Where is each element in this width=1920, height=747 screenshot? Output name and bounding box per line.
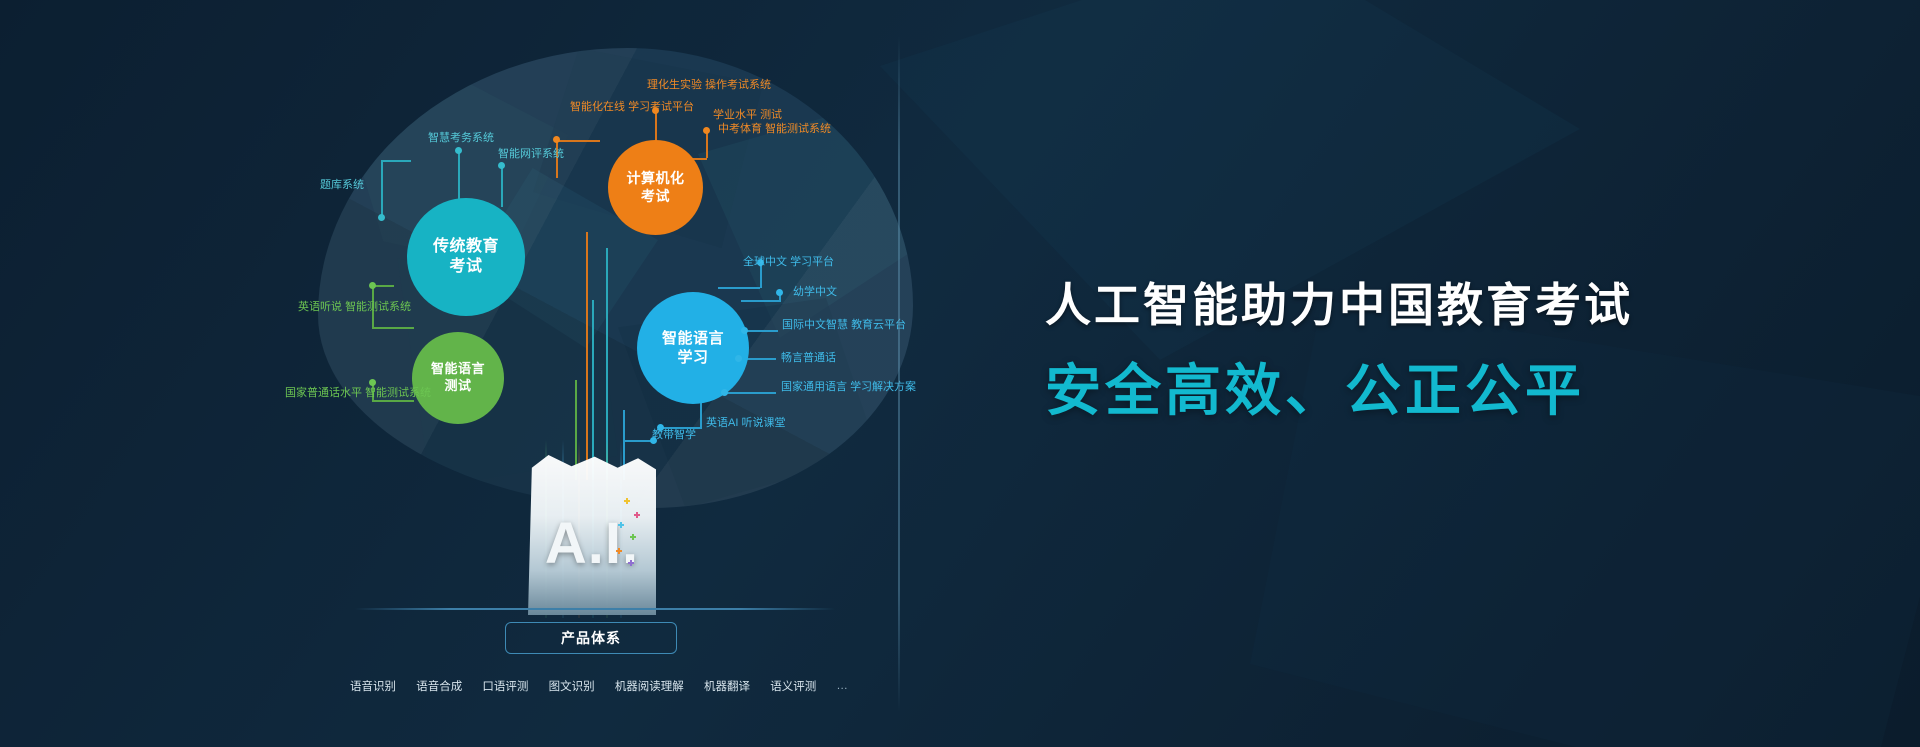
leaf-wisdom-teaching[interactable]: 教带智学: [652, 428, 696, 444]
node-label-line1: 计算机化: [627, 170, 685, 188]
ai-education-banner: 传统教育 考试 计算机化 考试 智能语言 测试 智能语言 学习: [0, 0, 1920, 747]
connector-dot: [455, 147, 462, 154]
sparkle-icon: [630, 534, 636, 540]
leaf-label-line2: 操作考试系统: [705, 79, 771, 91]
leaf-lab-operation-exam-system[interactable]: 理化生实验 操作考试系统: [647, 78, 771, 94]
connector-line: [623, 440, 653, 442]
sparkle-icon: [634, 512, 640, 518]
connector-dot: [703, 127, 710, 134]
tag-speech-recognition[interactable]: 语音识别: [350, 678, 396, 694]
leaf-label-line2: 学习解决方案: [850, 381, 916, 393]
node-label-line2: 考试: [641, 188, 670, 206]
node-intelligent-language-test[interactable]: 智能语言 测试: [412, 332, 504, 424]
leaf-label: 智能网评系统: [498, 148, 564, 160]
leaf-label-line2: 智能测试系统: [765, 123, 831, 135]
connector-dot: [776, 289, 783, 296]
leaf-label-line2: 学习平台: [790, 256, 834, 268]
node-label-line1: 智能语言: [662, 329, 724, 348]
connector-line: [706, 130, 708, 158]
leaf-label-line1: 国家普通话水平: [285, 387, 362, 399]
sparkle-icon: [618, 522, 624, 528]
connector-line: [501, 165, 503, 207]
leaf-label-line2: 听说课堂: [741, 417, 785, 429]
node-label-line1: 智能语言: [431, 361, 485, 378]
leaf-national-language-solution[interactable]: 国家通用语言 学习解决方案: [781, 380, 916, 396]
leaf-label-line1: 英语AI: [706, 417, 738, 429]
leaf-global-chinese-platform[interactable]: 全球中文 学习平台: [743, 255, 834, 271]
connector-line: [372, 327, 414, 329]
connector-dot: [378, 214, 385, 221]
leaf-smart-online-grading[interactable]: 智能网评系统: [498, 147, 564, 163]
leaf-smart-exam-affairs[interactable]: 智慧考务系统: [428, 131, 494, 147]
connector-line: [381, 160, 383, 218]
ai-trunk-label: A.I.: [528, 510, 656, 577]
leaf-label: 幼学中文: [793, 286, 837, 298]
headline-secondary: 安全高效、公正公平: [1045, 359, 1633, 423]
product-system-illustration: 传统教育 考试 计算机化 考试 智能语言 测试 智能语言 学习: [0, 0, 900, 747]
leaf-english-listening-speaking-test[interactable]: 英语听说 智能测试系统: [298, 300, 411, 316]
leaf-putonghua-proficiency-test[interactable]: 国家普通话水平 智能测试系统: [285, 386, 431, 402]
node-label-line2: 测试: [444, 378, 471, 395]
leaf-label-line1: 国家通用语言: [781, 381, 847, 393]
product-system-label: 产品体系: [561, 628, 621, 648]
brain-facet: [698, 108, 913, 338]
node-computerized-exam[interactable]: 计算机化 考试: [608, 140, 703, 235]
connector-line: [718, 287, 760, 289]
sparkle-icon: [628, 560, 634, 566]
node-intelligent-language-learning[interactable]: 智能语言 学习: [637, 292, 749, 404]
tag-semantic-evaluation[interactable]: 语义评测: [770, 678, 816, 694]
leaf-english-ai-classroom[interactable]: 英语AI 听说课堂: [706, 416, 785, 432]
connector-dot: [369, 379, 376, 386]
sparkle-icon: [616, 548, 622, 554]
connector-line: [744, 330, 778, 332]
leaf-online-learning-exam-platform[interactable]: 智能化在线 学习考试平台: [570, 100, 694, 116]
leaf-label-line1: 学业水平: [713, 109, 757, 121]
leaf-label: 畅言普通话: [781, 352, 836, 364]
connector-dot: [498, 162, 505, 169]
leaf-label-line2: 学习考试平台: [628, 101, 694, 113]
node-label-line2: 学习: [677, 348, 708, 367]
leaf-changyan-putonghua[interactable]: 畅言普通话: [781, 351, 836, 367]
sparkle-icon: [624, 498, 630, 504]
leaf-label-line1: 理化生实验: [647, 79, 702, 91]
brain-silhouette: [318, 48, 913, 508]
connector-line: [724, 392, 776, 394]
connector-dot: [735, 355, 742, 362]
leaf-pe-exam-system[interactable]: 中考体育 智能测试系统: [718, 122, 831, 138]
connector-line: [458, 150, 460, 202]
tag-machine-translation[interactable]: 机器翻译: [704, 678, 750, 694]
leaf-label: 题库系统: [320, 179, 364, 191]
leaf-label-line1: 中考体育: [718, 123, 762, 135]
leaf-intl-chinese-cloud-platform[interactable]: 国际中文智慧 教育云平台: [782, 318, 906, 334]
leaf-kids-chinese[interactable]: 幼学中文: [793, 285, 837, 301]
connector-line: [556, 140, 600, 142]
leaf-label-line2: 智能测试系统: [365, 387, 431, 399]
tag-more[interactable]: …: [836, 680, 850, 692]
capability-tag-list: 语音识别 语音合成 口语评测 图文识别 机器阅读理解 机器翻译 语义评测 …: [350, 678, 850, 694]
ground-divider: [355, 608, 835, 610]
leaf-question-bank[interactable]: 题库系统: [320, 178, 364, 194]
tag-machine-reading-comprehension[interactable]: 机器阅读理解: [615, 678, 684, 694]
headline-block: 人工智能助力中国教育考试 安全高效、公正公平: [1045, 278, 1633, 424]
tag-speech-synthesis[interactable]: 语音合成: [416, 678, 462, 694]
node-label-line2: 考试: [449, 257, 482, 277]
node-traditional-education-exam[interactable]: 传统教育 考试: [407, 198, 525, 316]
leaf-label-line1: 智能化在线: [570, 101, 625, 113]
connector-dot: [741, 327, 748, 334]
connector-line: [381, 160, 411, 162]
leaf-label-line1: 英语听说: [298, 301, 342, 313]
leaf-label: 智慧考务系统: [428, 132, 494, 144]
tag-image-text-recognition[interactable]: 图文识别: [549, 678, 595, 694]
leaf-label-line1: 全球中文: [743, 256, 787, 268]
leaf-label-line2: 智能测试系统: [345, 301, 411, 313]
connector-dot: [369, 282, 376, 289]
product-system-button[interactable]: 产品体系: [505, 622, 677, 654]
tag-oral-evaluation[interactable]: 口语评测: [482, 678, 528, 694]
node-label-line1: 传统教育: [433, 237, 499, 257]
connector-line: [741, 300, 779, 302]
connector-line: [586, 232, 588, 480]
leaf-label-line1: 国际中文智慧: [782, 319, 848, 331]
vertical-divider: [898, 36, 900, 712]
leaf-label: 教带智学: [652, 429, 696, 441]
leaf-label-line2: 测试: [760, 109, 782, 121]
connector-dot: [553, 136, 560, 143]
headline-primary: 人工智能助力中国教育考试: [1045, 278, 1633, 333]
connector-dot: [721, 389, 728, 396]
